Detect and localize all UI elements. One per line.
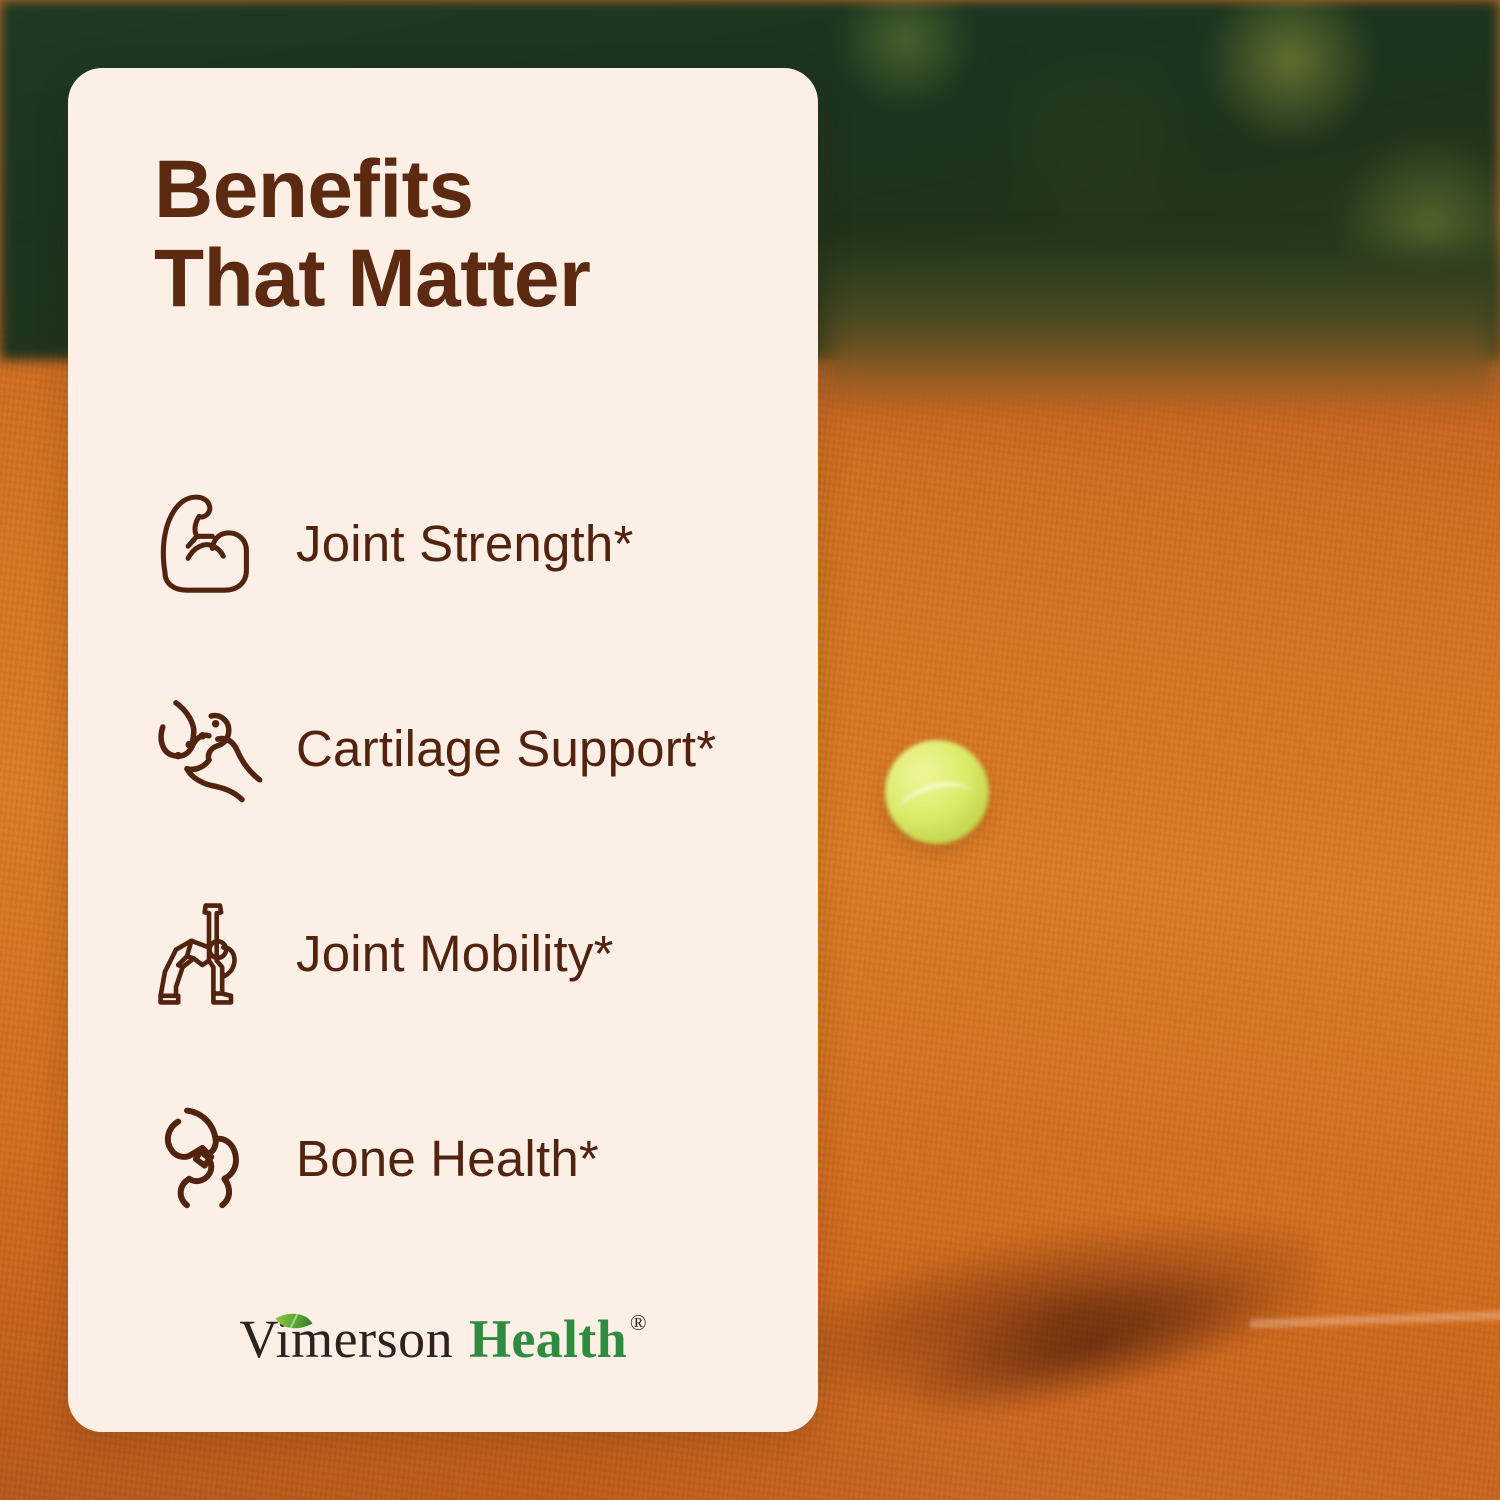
brand-logo: Vimerson Health ® bbox=[68, 1308, 818, 1370]
yoga-stretch-figure-icon bbox=[154, 899, 264, 1009]
cartilage-joint-icon bbox=[154, 694, 264, 804]
benefit-label: Joint Strength* bbox=[296, 514, 634, 573]
benefit-item-joint-strength: Joint Strength* bbox=[68, 441, 818, 646]
page-title: Benefits That Matter bbox=[154, 146, 818, 323]
benefit-label: Cartilage Support* bbox=[296, 719, 716, 778]
benefit-item-cartilage-support: Cartilage Support* bbox=[68, 646, 818, 851]
benefits-list: Joint Strength* Cartilage Support* bbox=[68, 441, 818, 1261]
benefit-label: Joint Mobility* bbox=[296, 924, 614, 983]
benefits-card: Benefits That Matter Joint Strength* bbox=[68, 68, 818, 1432]
benefit-item-joint-mobility: Joint Mobility* bbox=[68, 851, 818, 1056]
brand-name-health: Health bbox=[469, 1308, 627, 1370]
benefit-item-bone-health: Bone Health* bbox=[68, 1056, 818, 1261]
tennis-ball bbox=[885, 740, 989, 844]
flexed-bicep-icon bbox=[154, 489, 264, 599]
benefit-label: Bone Health* bbox=[296, 1129, 599, 1188]
bone-joint-icon bbox=[154, 1104, 264, 1214]
registered-trademark-mark: ® bbox=[630, 1310, 647, 1336]
brand-name-vimerson: Vimerson bbox=[239, 1308, 453, 1370]
